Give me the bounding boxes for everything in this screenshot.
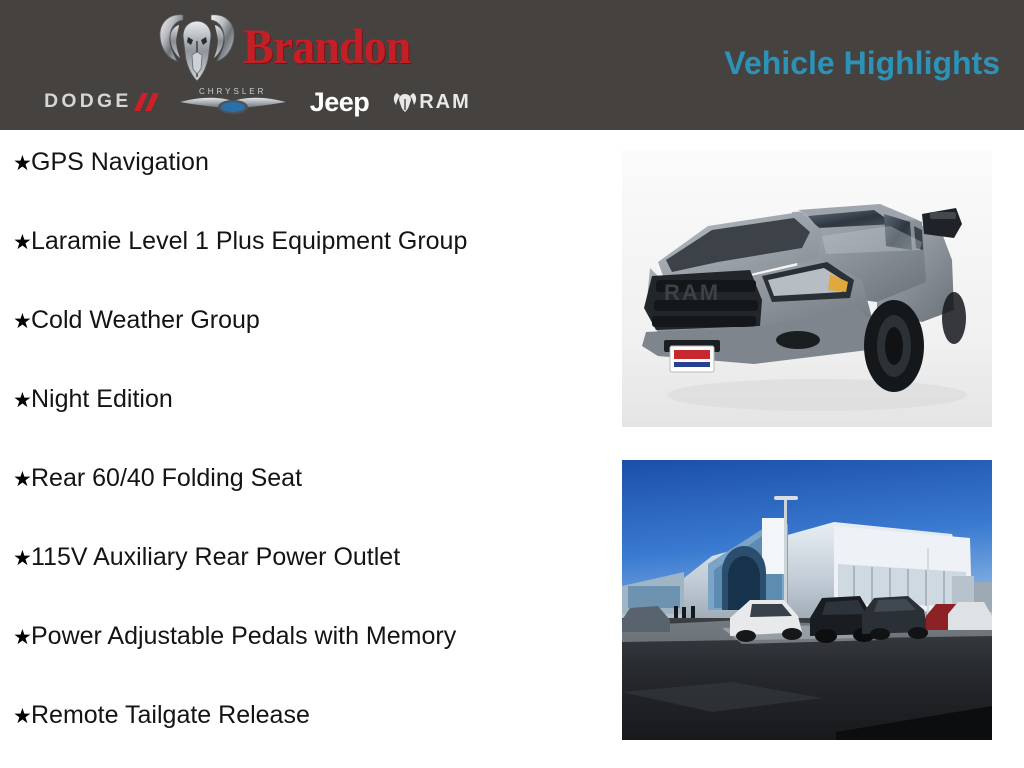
highlight-label: Power Adjustable Pedals with Memory bbox=[31, 622, 456, 650]
highlight-label: 115V Auxiliary Rear Power Outlet bbox=[31, 543, 400, 571]
ram-wordmark: RAM bbox=[419, 91, 471, 114]
chrysler-logo-icon: CHRYSLER bbox=[178, 87, 288, 117]
highlight-label: Rear 60/40 Folding Seat bbox=[31, 464, 302, 492]
dodge-wordmark: DODGE bbox=[44, 91, 131, 113]
dodge-logo-icon: DODGE bbox=[45, 91, 160, 113]
highlight-label: GPS Navigation bbox=[31, 148, 209, 176]
vehicle-photo-graphic: RAM bbox=[622, 150, 992, 427]
ram-logo-icon: RAM bbox=[393, 91, 471, 114]
star-bullet-icon: ★ bbox=[0, 703, 31, 731]
list-item: ★ Night Edition bbox=[0, 385, 610, 464]
star-bullet-icon: ★ bbox=[0, 387, 31, 415]
list-item: ★ Remote Tailgate Release bbox=[0, 701, 610, 768]
vehicle-highlights-page: Brandon DODGE CHRYSLER bbox=[0, 0, 1024, 768]
dealership-photo[interactable] bbox=[622, 460, 992, 740]
brand-logo-strip: DODGE CHRYSLER bbox=[45, 84, 535, 120]
star-bullet-icon: ★ bbox=[0, 150, 31, 178]
dodge-slashes-icon bbox=[134, 91, 160, 113]
vehicle-photo[interactable]: RAM bbox=[622, 150, 992, 427]
list-item: ★ GPS Navigation bbox=[0, 148, 610, 227]
list-item: ★ Power Adjustable Pedals with Memory bbox=[0, 622, 610, 701]
jeep-logo-icon: Jeep bbox=[310, 87, 370, 118]
logo-primary-row: Brandon bbox=[155, 8, 425, 84]
svg-text:RAM: RAM bbox=[664, 280, 720, 305]
star-bullet-icon: ★ bbox=[0, 229, 31, 257]
list-item: ★ 115V Auxiliary Rear Power Outlet bbox=[0, 543, 610, 622]
list-item: ★ Rear 60/40 Folding Seat bbox=[0, 464, 610, 543]
highlight-label: Cold Weather Group bbox=[31, 306, 260, 334]
list-item: ★ Laramie Level 1 Plus Equipment Group bbox=[0, 227, 610, 306]
star-bullet-icon: ★ bbox=[0, 545, 31, 573]
chrysler-wings-icon bbox=[178, 95, 288, 117]
page-header: Brandon DODGE CHRYSLER bbox=[0, 0, 1024, 130]
list-item: ★ Cold Weather Group bbox=[0, 306, 610, 385]
highlight-label: Laramie Level 1 Plus Equipment Group bbox=[31, 227, 467, 255]
page-title: Vehicle Highlights bbox=[724, 44, 1000, 82]
dealer-logo[interactable]: Brandon DODGE CHRYSLER bbox=[45, 6, 535, 124]
vehicle-highlights-list: ★ GPS Navigation ★ Laramie Level 1 Plus … bbox=[0, 148, 610, 768]
star-bullet-icon: ★ bbox=[0, 466, 31, 494]
star-bullet-icon: ★ bbox=[0, 624, 31, 652]
highlight-label: Remote Tailgate Release bbox=[31, 701, 310, 729]
ram-badge-icon bbox=[393, 91, 417, 113]
dealer-name: Brandon bbox=[243, 21, 410, 71]
star-bullet-icon: ★ bbox=[0, 308, 31, 336]
dealership-photo-graphic bbox=[622, 460, 992, 740]
ram-head-icon bbox=[155, 9, 239, 83]
highlight-label: Night Edition bbox=[31, 385, 173, 413]
